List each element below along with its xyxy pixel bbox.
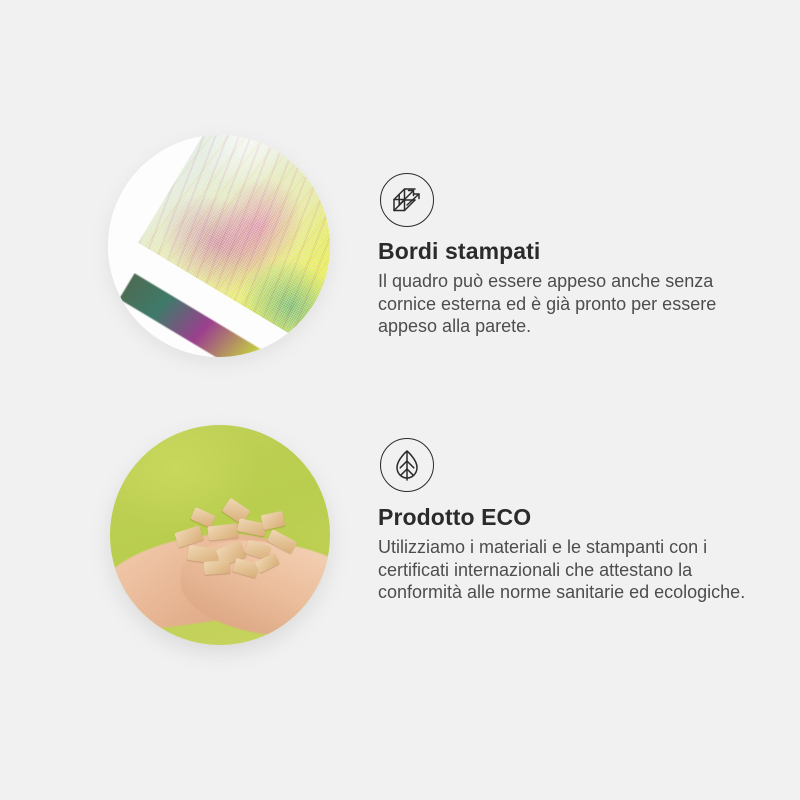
feature-body-eco-product: Utilizziamo i materiali e le stampanti c…: [378, 536, 746, 604]
wood-chips-pile: [172, 499, 304, 585]
leaf-glyph: [390, 448, 424, 482]
leaf-icon: [380, 438, 434, 492]
product-features-page: Bordi stampati Il quadro può essere appe…: [0, 0, 800, 800]
feature-title-eco-product: Prodotto ECO: [378, 504, 531, 531]
feature-block-eco-product: Prodotto ECO Utilizziamo i materiali e l…: [0, 0, 800, 800]
hands-wood-chips-photo: [110, 425, 330, 645]
